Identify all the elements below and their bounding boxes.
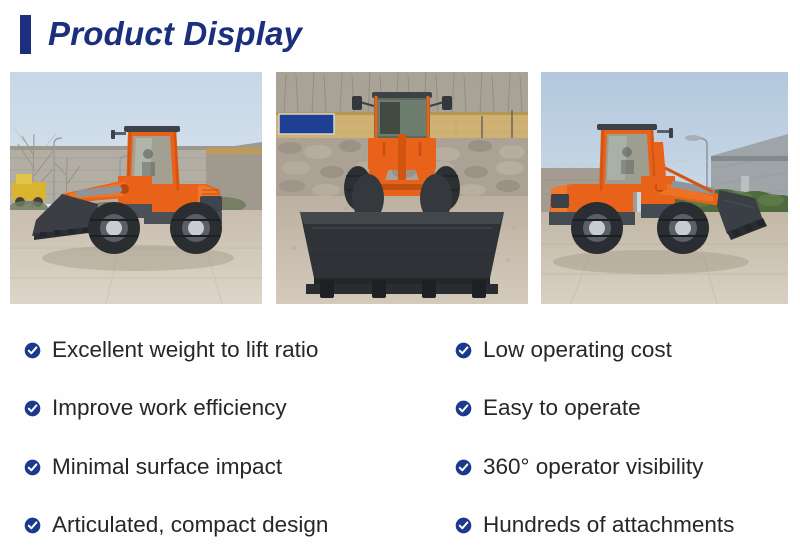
- feature-label: Excellent weight to lift ratio: [52, 339, 318, 362]
- product-photo-3[interactable]: [541, 72, 788, 304]
- page-title: Product Display: [48, 17, 302, 50]
- check-circle-icon: [455, 517, 472, 534]
- product-photo-1[interactable]: [10, 72, 262, 304]
- check-circle-icon: [24, 342, 41, 359]
- wheel-loader-side-right-illustration: [541, 72, 788, 304]
- feature-label: Hundreds of attachments: [483, 514, 734, 537]
- page-header: Product Display: [0, 0, 800, 66]
- check-circle-icon: [24, 400, 41, 417]
- feature-label: Minimal surface impact: [52, 456, 282, 479]
- feature-item: Excellent weight to lift ratio: [24, 333, 318, 367]
- title-accent-bar: [20, 15, 31, 54]
- feature-label: Articulated, compact design: [52, 514, 328, 537]
- feature-item: 360° operator visibility: [455, 450, 703, 484]
- product-photo-2[interactable]: [276, 72, 528, 304]
- feature-item: Minimal surface impact: [24, 450, 282, 484]
- wheel-loader-front-illustration: [276, 72, 528, 304]
- feature-label: 360° operator visibility: [483, 456, 703, 479]
- check-circle-icon: [455, 342, 472, 359]
- check-circle-icon: [455, 459, 472, 476]
- feature-list: Excellent weight to lift ratio Improve w…: [0, 310, 800, 554]
- feature-label: Low operating cost: [483, 339, 672, 362]
- feature-item: Hundreds of attachments: [455, 508, 734, 542]
- feature-item: Articulated, compact design: [24, 508, 328, 542]
- check-circle-icon: [455, 400, 472, 417]
- wheel-loader-side-left-illustration: [10, 72, 262, 304]
- feature-column-left: Excellent weight to lift ratio Improve w…: [24, 310, 444, 554]
- feature-label: Easy to operate: [483, 397, 641, 420]
- feature-column-right: Low operating cost Easy to operate 360° …: [455, 310, 800, 554]
- product-display-page: Product Display: [0, 0, 800, 554]
- feature-item: Improve work efficiency: [24, 391, 287, 425]
- feature-label: Improve work efficiency: [52, 397, 287, 420]
- feature-item: Easy to operate: [455, 391, 641, 425]
- product-image-gallery: [0, 72, 800, 304]
- check-circle-icon: [24, 459, 41, 476]
- feature-item: Low operating cost: [455, 333, 672, 367]
- check-circle-icon: [24, 517, 41, 534]
